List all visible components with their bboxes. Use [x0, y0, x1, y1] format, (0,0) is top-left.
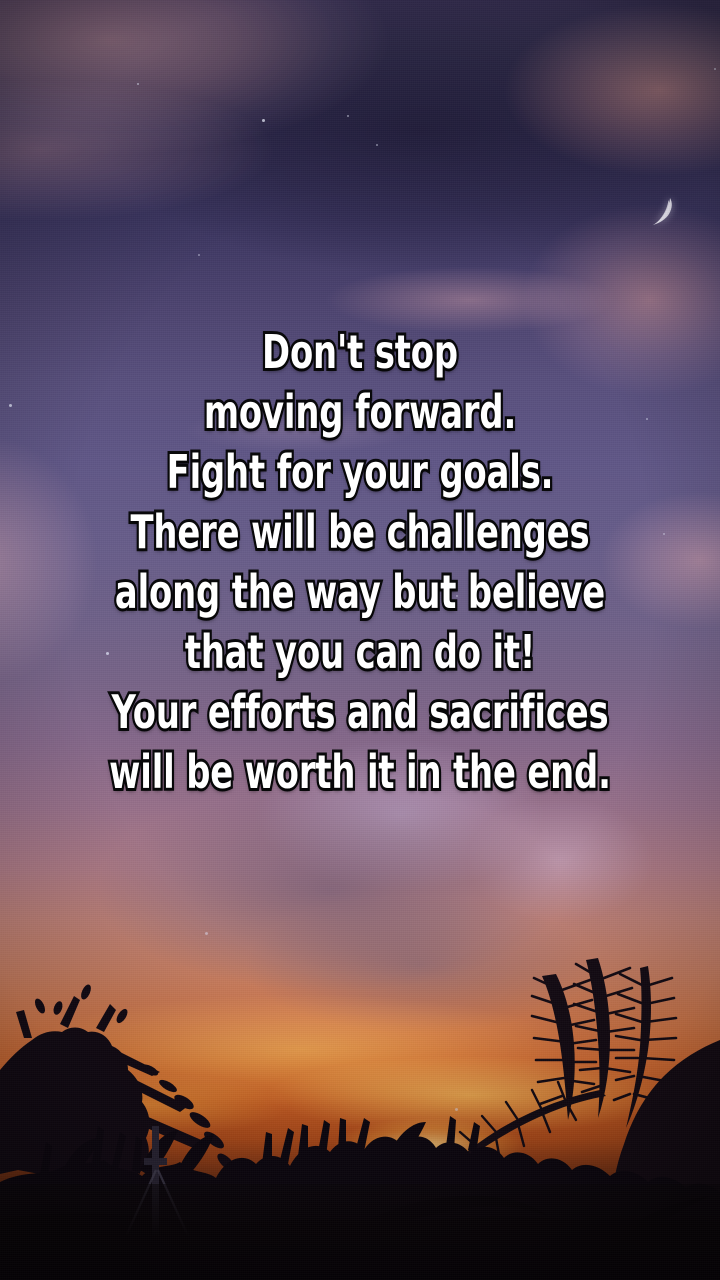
- star: [198, 254, 200, 256]
- quote-line-8: will be worth it in the end.: [101, 742, 618, 802]
- star: [137, 83, 139, 85]
- ground-shadow: [0, 1184, 720, 1280]
- quote-line-6: that you can do it!: [101, 622, 618, 682]
- star: [347, 115, 349, 117]
- quote-line-5: along the way but believe: [101, 562, 618, 622]
- quote-text-block: Don't stop moving forward. Fight for you…: [0, 322, 720, 802]
- quote-line-3: Fight for your goals.: [101, 442, 618, 502]
- quote-line-4: There will be challenges: [101, 502, 618, 562]
- quote-wallpaper: Don't stop moving forward. Fight for you…: [0, 0, 720, 1280]
- quote-line-7: Your efforts and sacrifices: [101, 682, 618, 742]
- quote-line-1: Don't stop: [101, 322, 618, 382]
- star: [714, 68, 716, 70]
- quote-line-2: moving forward.: [101, 382, 618, 442]
- star: [262, 119, 265, 122]
- star: [376, 144, 378, 146]
